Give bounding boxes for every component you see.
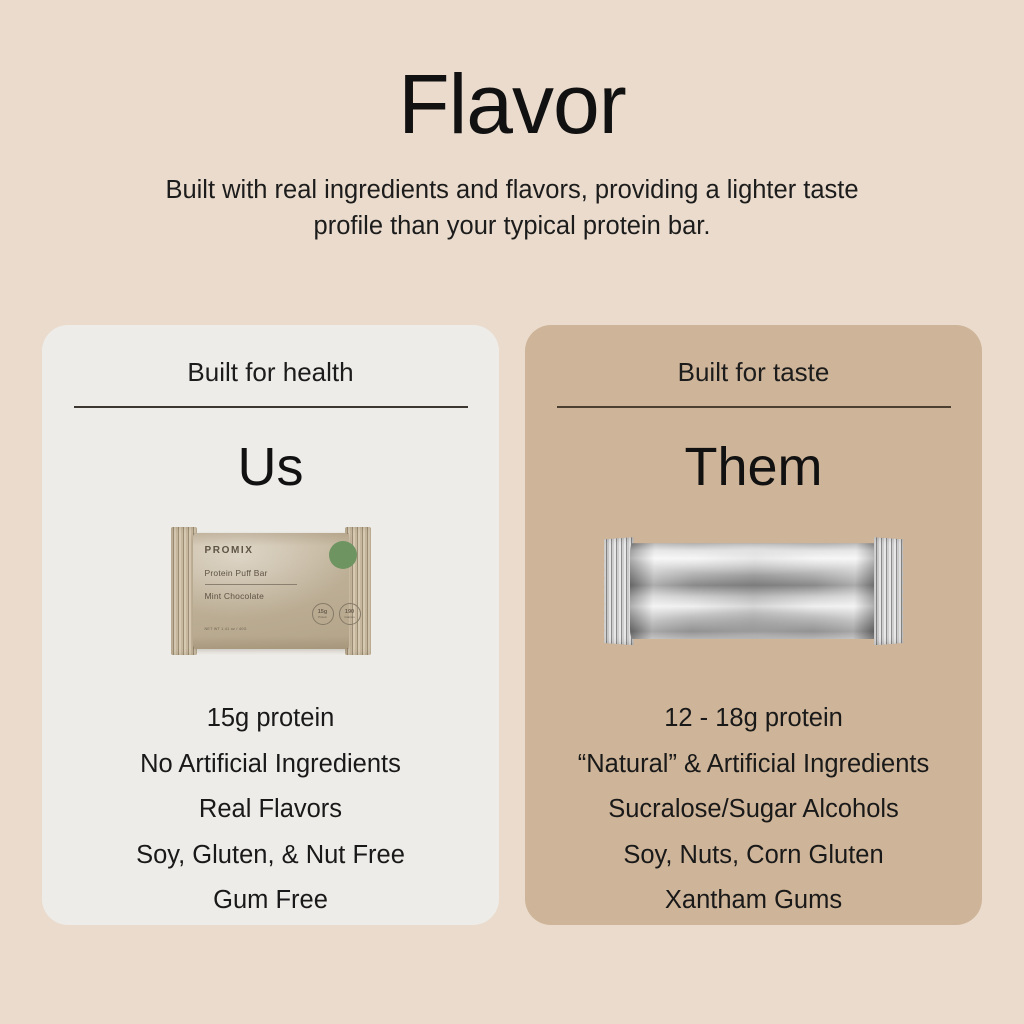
feature-item: Soy, Nuts, Corn Gluten [555, 833, 952, 879]
feature-item: 15g protein [72, 696, 469, 742]
wrapper-badge-calories: 190 Calories [339, 603, 361, 625]
comparison-card-them: Built for taste Them 12 - 18g protein “N… [525, 325, 982, 925]
wrapper-label-text: PROMIX Protein Puff Bar Mint Chocolate N… [205, 545, 339, 601]
foil-crimp-left [604, 537, 634, 645]
wrapper-flavor: Mint Chocolate [205, 591, 339, 601]
wrapper-label-divider [205, 584, 297, 585]
wrapper-nutrition-badges: 15g Protein 190 Calories [312, 603, 361, 625]
badge-calories-label: Calories [344, 616, 354, 619]
page-title: Flavor [0, 62, 1024, 146]
feature-item: “Natural” & Artificial Ingredients [555, 742, 952, 788]
comparison-card-us: Built for health Us PROMIX Protein Puff … [42, 325, 499, 925]
comparison-cards: Built for health Us PROMIX Protein Puff … [42, 325, 982, 925]
kraft-pouch-wrapper: PROMIX Protein Puff Bar Mint Chocolate N… [171, 525, 371, 657]
product-image-us: PROMIX Protein Puff Bar Mint Chocolate N… [171, 516, 371, 666]
card-kicker-us: Built for health [187, 357, 353, 388]
card-heading-them: Them [684, 440, 822, 494]
silver-foil-bar-wrapper [604, 537, 904, 645]
feature-item: Gum Free [72, 878, 469, 924]
feature-item: Xantham Gums [555, 878, 952, 924]
flavor-comparison-page: Flavor Built with real ingredients and f… [0, 0, 1024, 1024]
card-divider-us [74, 406, 468, 408]
feature-list-us: 15g protein No Artificial Ingredients Re… [72, 696, 469, 924]
feature-item: 12 - 18g protein [555, 696, 952, 742]
card-heading-us: Us [238, 440, 304, 494]
feature-list-them: 12 - 18g protein “Natural” & Artificial … [555, 696, 952, 924]
card-kicker-them: Built for taste [678, 357, 830, 388]
wrapper-badge-protein: 15g Protein [312, 603, 334, 625]
wrapper-product-name: Protein Puff Bar [205, 568, 339, 578]
card-divider-them [557, 406, 951, 408]
foil-body [630, 543, 878, 639]
badge-protein-label: Protein [318, 616, 327, 619]
feature-item: Soy, Gluten, & Nut Free [72, 833, 469, 879]
page-header: Flavor Built with real ingredients and f… [0, 0, 1024, 244]
wrapper-net-weight: NET WT 1.41 oz / 40G [205, 627, 247, 631]
wrapper-brand: PROMIX [205, 545, 339, 556]
foil-crimp-right [874, 537, 904, 645]
page-subtitle: Built with real ingredients and flavors,… [162, 172, 862, 244]
product-image-them [604, 516, 904, 666]
feature-item: No Artificial Ingredients [72, 742, 469, 788]
feature-item: Real Flavors [72, 787, 469, 833]
feature-item: Sucralose/Sugar Alcohols [555, 787, 952, 833]
